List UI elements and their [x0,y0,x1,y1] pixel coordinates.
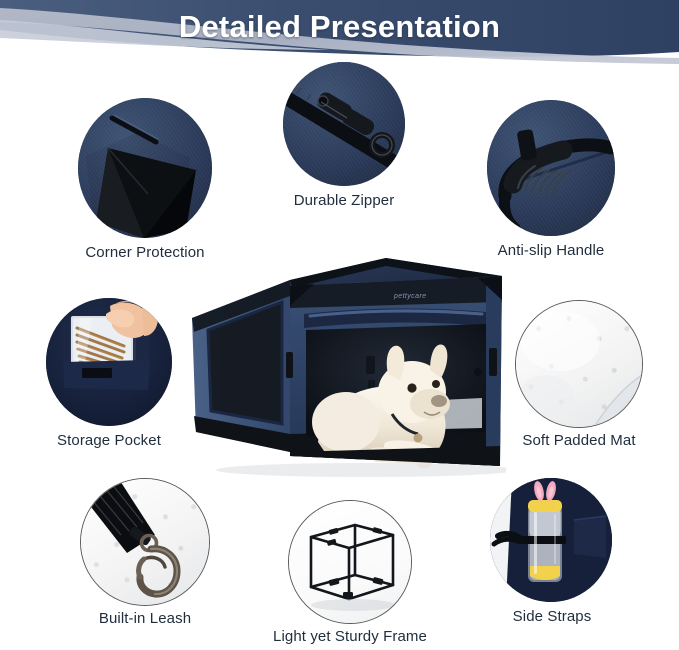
product-image-dog-crate: pettycare [186,256,506,484]
page-title: Detailed Presentation [0,9,679,45]
feature-label: Side Straps [513,608,592,625]
feature-built-in-leash[interactable]: Built-in Leash [80,478,210,624]
feature-corner-protection[interactable]: Corner Protection [78,98,212,250]
feature-soft-padded-mat[interactable]: Soft Padded Mat [515,300,643,448]
feature-label: Storage Pocket [57,432,161,449]
infographic-canvas: Detailed Presentation [0,0,679,650]
feature-label: Anti-slip Handle [498,242,605,259]
mat-fold-shading [516,301,642,427]
crate-side-strap-right [489,348,497,376]
product-brand-logo: pettycare [393,293,426,300]
dog-eye-right [432,380,440,388]
feature-label: Light yet Sturdy Frame [273,628,427,645]
handle-grip-icon [487,100,615,236]
dog-nose [431,395,447,407]
crate-side-strap-left [286,352,293,378]
crate-corner-patch-icon [78,98,212,238]
feature-side-straps[interactable]: Side Straps [490,478,614,624]
product-shadow [216,463,506,477]
feature-light-yet-sturdy-frame[interactable]: Light yet Sturdy Frame [288,500,412,648]
bottle-strap-icon [490,478,612,602]
crate-grommet [474,368,482,376]
feature-label: Built-in Leash [99,610,191,627]
leash-snap-hook-icon [81,479,209,605]
dog-eye-left [407,383,416,392]
feature-anti-slip-handle[interactable]: Anti-slip Handle [487,100,615,250]
feature-durable-zipper[interactable]: Durable Zipper [283,62,405,202]
pocket-with-treats-icon [46,298,172,426]
feature-label: Durable Zipper [294,192,395,209]
zipper-icon [283,62,405,186]
feature-label: Soft Padded Mat [522,432,635,449]
feature-storage-pocket[interactable]: Storage Pocket [46,298,172,446]
crate-buckle-center [366,356,375,374]
feature-label: Corner Protection [85,244,204,261]
dog-collar-tag [414,434,423,443]
dog-haunch [312,392,380,452]
wire-frame-icon [289,501,411,623]
